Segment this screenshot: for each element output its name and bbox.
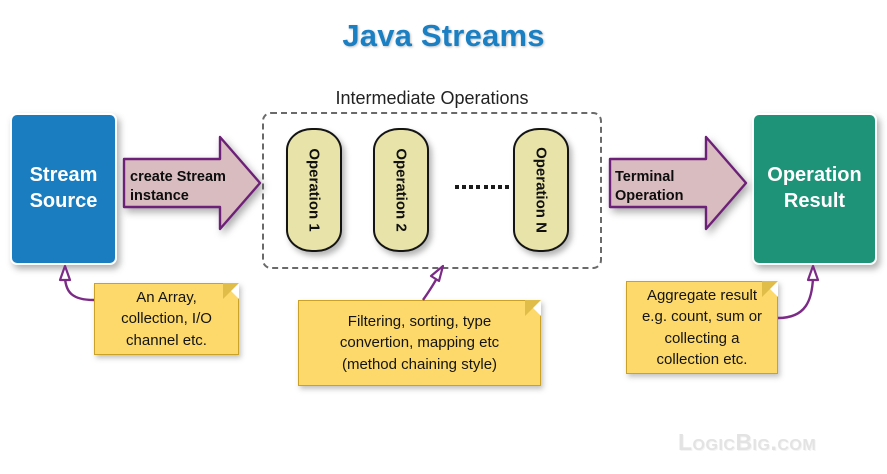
logicbig-watermark: LogicBig.com [678,429,816,456]
note-intermediate-operations: Filtering, sorting, type convertion, map… [298,300,541,386]
note-stream-source-text: An Array, collection, I/O channel etc. [121,287,212,351]
note-operation-result-text: Aggregate result e.g. count, sum or coll… [642,285,762,370]
connector-intermediate [423,266,443,300]
connector-source [60,266,94,300]
operation-pill-1: Operation 1 [286,128,342,252]
note-operation-result: Aggregate result e.g. count, sum or coll… [626,281,778,374]
intermediate-operations-caption: Intermediate Operations [262,88,602,109]
page-title: Java Streams [0,18,887,54]
create-stream-arrow-label: create Stream instance [130,168,240,206]
stream-source-label-line2: Source [30,190,98,212]
operation-result-label-line2: Result [784,190,845,212]
terminal-operation-arrow-label: Terminal Operation [615,168,715,206]
stream-source-label-line1: Stream [30,164,98,186]
operation-pill-n-label: Operation N [533,147,550,233]
operation-result-box: Operation Result [752,113,877,265]
connector-result [778,266,818,318]
operation-result-label: Operation Result [767,163,861,214]
operations-ellipsis-icon [455,183,509,191]
note-intermediate-operations-text: Filtering, sorting, type convertion, map… [340,311,499,375]
stream-source-box: Stream Source [10,113,117,265]
operation-result-label-line1: Operation [767,164,861,186]
operation-pill-n: Operation N [513,128,569,252]
operation-pill-2: Operation 2 [373,128,429,252]
operation-pill-2-label: Operation 2 [393,148,410,231]
note-stream-source: An Array, collection, I/O channel etc. [94,283,239,355]
operation-pill-1-label: Operation 1 [306,148,323,231]
stream-source-label: Stream Source [30,163,98,214]
